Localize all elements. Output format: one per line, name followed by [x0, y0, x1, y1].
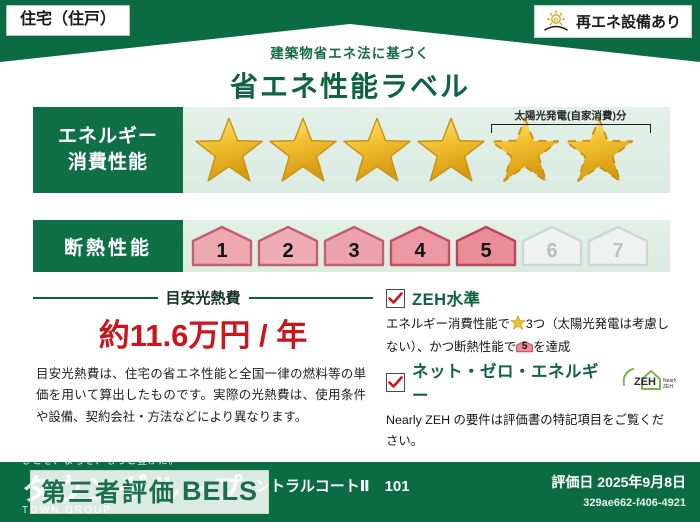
insulation-level-4: 4 [389, 225, 451, 267]
utility-cost-value: 約11.6万円 / 年 [33, 310, 373, 355]
net-zero-checkbox[interactable] [386, 373, 405, 392]
insulation-level-scale: 1 2 3 4 5 6 7 [183, 225, 649, 267]
bels-watermark: 第三者評価 BELS [30, 470, 269, 514]
renewable-equipment-badge: R 再エネ設備あり [534, 5, 692, 38]
insulation-level-1: 1 [191, 225, 253, 267]
renewable-badge-label: 再エネ設備あり [576, 11, 681, 32]
insulation-level-3: 3 [323, 225, 385, 267]
insulation-performance-row: 断熱性能 1 2 3 4 5 6 [33, 220, 670, 272]
zeh-standard-block: ZEH水準 エネルギー消費性能で3つ（太陽光発電は考慮しない）、かつ断熱性能で5… [386, 286, 676, 358]
utility-cost-heading: 目安光熱費 [33, 287, 373, 308]
insulation-level-inline-icon: 5 [516, 339, 533, 354]
star-icon-solar-6 [563, 115, 635, 185]
star-icon-solar-5 [489, 115, 561, 185]
cost-rule-right [249, 297, 374, 299]
house-type-badge: 住宅（住戸） [6, 5, 130, 36]
energy-label-line1: エネルギー [58, 124, 158, 150]
evaluation-date-value: 2025年9月8日 [597, 474, 686, 490]
star-icon-inline [510, 315, 526, 337]
net-zero-header: ネット・ゼロ・エネルギー ZEH Nearly ZEH [386, 358, 676, 406]
zeh-body-part3: を達成 [533, 340, 570, 354]
star-icon-filled-4 [415, 115, 487, 185]
title-subtitle: 建築物省エネ法に基づく [0, 42, 700, 62]
cost-rule-left [33, 297, 158, 299]
zeh-standard-title: ZEH水準 [412, 286, 481, 310]
zeh-logo-text: ZEH [634, 376, 656, 388]
net-zero-energy-block: ネット・ゼロ・エネルギー ZEH Nearly ZEH Nearly ZEH の… [386, 358, 676, 452]
label-title: 建築物省エネ法に基づく 省エネ性能ラベル [0, 42, 700, 105]
cost-heading-label: 目安光熱費 [166, 287, 241, 308]
column-divider [378, 286, 379, 436]
evaluation-id: 329ae662-f406-4921 [583, 497, 686, 509]
utility-cost-note: 目安光熱費は、住宅の省エネ性能と全国一律の燃料等の単価を用いて算出したものです。… [36, 364, 366, 428]
energy-performance-row: エネルギー 消費性能 [33, 107, 670, 193]
bels-watermark-jp: 第三者評価 [41, 473, 176, 509]
evaluation-date-label: 評価日 [551, 474, 593, 490]
energy-performance-label: 住宅（住戸） R 再エネ設備あり 建築物省エネ法に基 [0, 0, 700, 522]
insulation-level-2: 2 [257, 225, 319, 267]
net-zero-body: Nearly ZEH の要件は評価書の特記項目をご覧ください。 [386, 410, 676, 452]
star-icon-filled-3 [341, 115, 413, 185]
insulation-level-5: 5 [455, 225, 517, 267]
svg-text:R: R [554, 18, 559, 24]
insulation-level-3-value: 3 [348, 240, 359, 267]
zeh-standard-body: エネルギー消費性能で3つ（太陽光発電は考慮しない）、かつ断熱性能で5を達成 [386, 314, 676, 358]
evaluation-date: 評価日 2025年9月8日 [551, 472, 686, 492]
insulation-label-box: 断熱性能 [33, 220, 183, 272]
insulation-level-5-value: 5 [480, 240, 491, 267]
check-icon [388, 292, 403, 305]
title-main: 省エネ性能ラベル [0, 65, 700, 105]
insulation-level-4-value: 4 [414, 240, 425, 267]
insulation-level-1-value: 1 [216, 240, 227, 267]
star-icon-filled-1 [193, 115, 265, 185]
check-icon [388, 376, 403, 389]
energy-label-line2: 消費性能 [68, 150, 148, 176]
insulation-level-2-value: 2 [282, 240, 293, 267]
sun-icon: R [543, 10, 569, 32]
zeh-logo-icon: ZEH Nearly ZEH [620, 365, 676, 400]
zeh-checkbox[interactable] [386, 289, 405, 308]
zeh-body-house-value: 5 [516, 339, 533, 355]
zeh-body-part1: エネルギー消費性能で [386, 317, 510, 331]
star-icon-filled-2 [267, 115, 339, 185]
bels-watermark-en: BELS [182, 476, 258, 507]
svg-text:ZEH: ZEH [663, 384, 673, 390]
label-footer: セントラルコートⅡ 101 評価日 2025年9月8日 329ae662-f40… [0, 460, 700, 522]
insulation-level-6: 6 [521, 225, 583, 267]
zeh-standard-header: ZEH水準 [386, 286, 676, 310]
insulation-level-6-value: 6 [546, 240, 557, 267]
energy-performance-label-box: エネルギー 消費性能 [33, 107, 183, 193]
insulation-level-7: 7 [587, 225, 649, 267]
energy-star-rating [183, 107, 670, 193]
insulation-level-7-value: 7 [612, 240, 623, 267]
net-zero-title: ネット・ゼロ・エネルギー [412, 358, 610, 406]
